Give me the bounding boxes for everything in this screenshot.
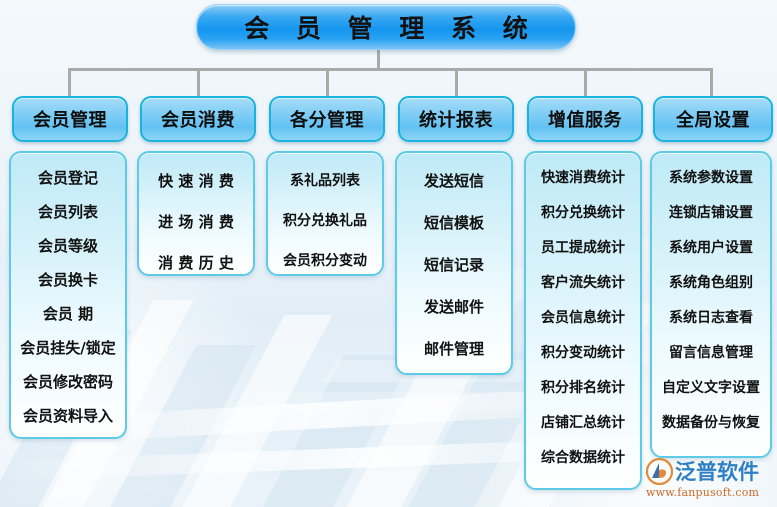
watermark-url: www.fanpusoft.com [646,486,777,499]
menu-item[interactable]: 发送邮件 [401,300,507,315]
connector-drop-4 [455,68,458,99]
category-header-4-label: 统计报表 [419,106,493,132]
watermark: 泛普软件 www.fanpusoft.com [646,455,777,505]
menu-item[interactable]: 快 速 消 费 [143,174,249,189]
menu-item[interactable]: 邮件管理 [401,342,507,357]
menu-item[interactable]: 积分排名统计 [530,381,636,395]
connector-drop-1 [68,68,71,99]
menu-item[interactable]: 会员列表 [15,205,121,220]
category-header-1-label: 会员管理 [33,106,107,132]
org-chart-canvas: 会 员 管 理 系 统 会员管理 会员消费 各分管理 统计报表 增值服务 全局设… [0,0,777,507]
category-header-2-label: 会员消费 [161,106,235,132]
category-header-6-label: 全局设置 [676,106,750,132]
menu-item[interactable]: 会员等级 [15,239,121,254]
connector-trunk [377,48,380,69]
menu-item[interactable]: 客户流失统计 [530,276,636,290]
menu-panel-3: 系礼品列表 积分兑换礼品 会员积分变动 [266,151,384,276]
category-header-1[interactable]: 会员管理 [12,96,128,142]
connector-drop-3 [326,68,329,99]
fanpu-logo-icon [646,458,673,485]
menu-item[interactable]: 短信记录 [401,258,507,273]
menu-item[interactable]: 综合数据统计 [530,451,636,465]
menu-item[interactable]: 留言信息管理 [656,346,766,360]
menu-panel-1: 会员登记 会员列表 会员等级 会员换卡 会员 期 会员挂失/锁定 会员修改密码 … [9,151,127,439]
menu-item[interactable]: 进 场 消 费 [143,215,249,230]
category-header-5-label: 增值服务 [548,106,622,132]
menu-item[interactable]: 发送短信 [401,174,507,189]
menu-item[interactable]: 自定义文字设置 [656,381,766,395]
menu-item[interactable]: 积分兑换礼品 [272,214,378,228]
menu-panel-4: 发送短信 短信模板 短信记录 发送邮件 邮件管理 [395,151,513,375]
system-title-label: 会 员 管 理 系 统 [235,9,537,45]
menu-item[interactable]: 会员换卡 [15,273,121,288]
category-header-2[interactable]: 会员消费 [140,96,256,142]
category-header-4[interactable]: 统计报表 [398,96,514,142]
menu-item[interactable]: 员工提成统计 [530,241,636,255]
menu-item[interactable]: 系统角色组别 [656,276,766,290]
menu-item[interactable]: 会员登记 [15,171,121,186]
menu-item[interactable]: 会员 期 [15,307,121,322]
menu-item[interactable]: 会员修改密码 [15,375,121,390]
menu-item[interactable]: 系统参数设置 [656,171,766,185]
watermark-brand: 泛普软件 [675,456,759,486]
connector-drop-6 [710,68,713,99]
connector-drop-5 [584,68,587,99]
menu-item[interactable]: 系统日志查看 [656,311,766,325]
menu-item[interactable]: 系礼品列表 [272,174,378,188]
menu-item[interactable]: 快速消费统计 [530,171,636,185]
category-header-3-label: 各分管理 [290,106,364,132]
menu-panel-5: 快速消费统计 积分兑换统计 员工提成统计 客户流失统计 会员信息统计 积分变动统… [524,151,642,490]
menu-item[interactable]: 连锁店铺设置 [656,206,766,220]
connector-drop-2 [197,68,200,99]
menu-item[interactable]: 系统用户设置 [656,241,766,255]
menu-item[interactable]: 会员资料导入 [15,409,121,424]
menu-panel-6: 系统参数设置 连锁店铺设置 系统用户设置 系统角色组别 系统日志查看 留言信息管… [650,151,772,458]
category-header-3[interactable]: 各分管理 [269,96,385,142]
menu-item[interactable]: 数据备份与恢复 [656,416,766,430]
menu-item[interactable]: 短信模板 [401,216,507,231]
menu-item[interactable]: 会员挂失/锁定 [15,341,121,356]
menu-item[interactable]: 积分兑换统计 [530,206,636,220]
menu-item[interactable]: 积分变动统计 [530,346,636,360]
menu-panel-2: 快 速 消 费 进 场 消 费 消 费 历 史 [137,151,255,276]
system-title: 会 员 管 理 系 统 [196,4,576,50]
category-header-5[interactable]: 增值服务 [527,96,643,142]
connector-bus [68,68,713,71]
menu-item[interactable]: 消 费 历 史 [143,256,249,271]
menu-item[interactable]: 店铺汇总统计 [530,416,636,430]
category-header-6[interactable]: 全局设置 [653,96,773,142]
menu-item[interactable]: 会员信息统计 [530,311,636,325]
menu-item[interactable]: 会员积分变动 [272,254,378,268]
